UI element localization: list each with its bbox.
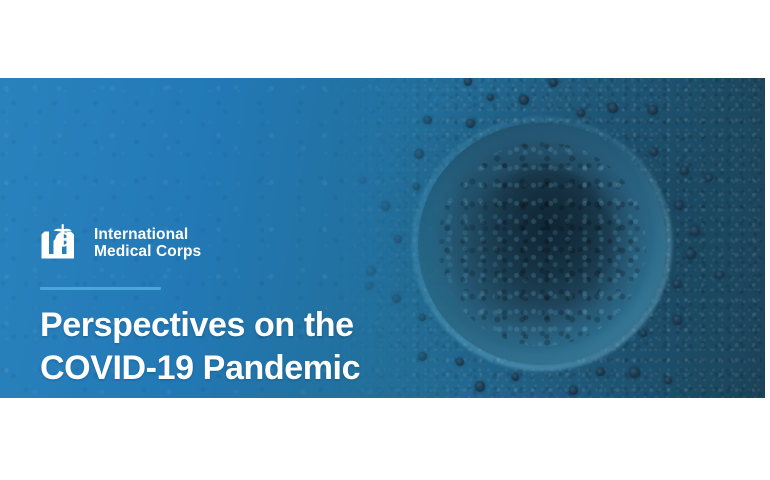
spike-protein-dot — [549, 78, 558, 87]
spike-protein-dot — [419, 314, 426, 321]
spike-protein-dot — [608, 103, 618, 113]
virion-body — [418, 123, 666, 365]
spike-protein-dot — [392, 294, 401, 303]
spike-protein-dot — [464, 78, 473, 86]
spike-protein-dot — [705, 174, 713, 182]
banner-title-line1: Perspectives on the — [40, 304, 360, 347]
spike-protein-dot — [716, 271, 724, 279]
page-root: International Medical Corps Perspectives… — [0, 0, 770, 480]
spike-protein-dot — [381, 201, 391, 211]
organization-logo[interactable]: International Medical Corps — [40, 223, 201, 263]
spike-protein-dot — [577, 109, 585, 117]
banner-title-line2: COVID-19 Pandemic — [40, 347, 360, 390]
organization-name: International Medical Corps — [94, 226, 201, 261]
spike-protein-dot — [475, 381, 486, 392]
spike-protein-dot — [680, 166, 689, 175]
spike-protein-dot — [650, 148, 658, 156]
organization-name-line2: Medical Corps — [94, 243, 201, 260]
spike-protein-dot — [413, 183, 420, 190]
logo-title-divider — [40, 287, 161, 290]
coronavirus-micrograph-image — [330, 78, 765, 398]
virion-speckle-texture — [438, 142, 646, 345]
spike-protein-dot — [673, 315, 683, 325]
spike-protein-dot — [423, 116, 432, 125]
banner-title: Perspectives on the COVID-19 Pandemic — [40, 304, 360, 390]
spike-protein-dot — [365, 282, 373, 290]
spike-protein-dot — [366, 266, 376, 276]
covid-perspectives-banner: International Medical Corps Perspectives… — [0, 78, 765, 398]
spike-protein-dot — [512, 373, 520, 381]
organization-name-line1: International — [94, 226, 188, 243]
spike-protein-dot — [675, 201, 684, 210]
international-medical-corps-m-caduceus-logo — [40, 223, 86, 263]
spike-protein-dot — [414, 149, 424, 159]
spike-protein-dot — [685, 249, 696, 260]
spike-protein-dot — [640, 330, 647, 337]
